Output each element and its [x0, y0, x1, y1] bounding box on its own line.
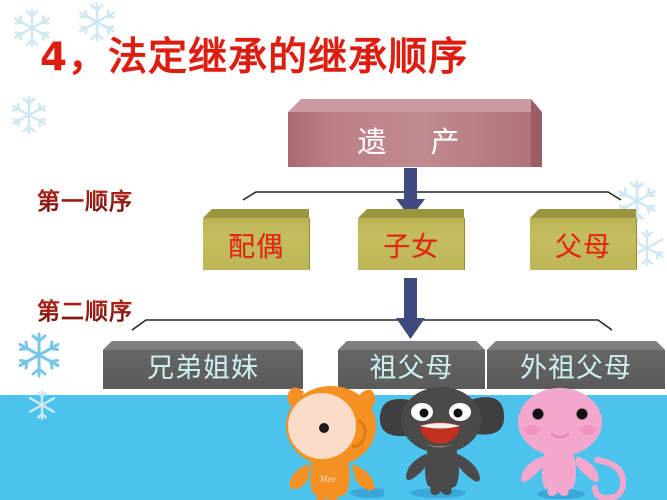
- svg-text:Mee: Mee: [319, 474, 336, 484]
- character-pink-pig: [505, 386, 633, 500]
- tier1-box-label: 父母: [530, 218, 636, 270]
- order-label-second: 第二顺序: [37, 292, 133, 326]
- tier1-box-parents[interactable]: 父母: [530, 218, 636, 270]
- estate-label-char-2: 产: [431, 119, 462, 161]
- slide-canvas: 4，法定继承的继承顺序 第一顺序 第二顺序 遗 产 配偶: [0, 0, 667, 500]
- estate-box-label: 遗 产: [288, 112, 531, 167]
- estate-box-side-face: [531, 99, 542, 167]
- tier1-box-children[interactable]: 子女: [358, 218, 464, 270]
- tier1-box-label: 子女: [358, 218, 464, 270]
- order-label-first: 第一顺序: [37, 182, 133, 216]
- character-orange-cat: Mee: [274, 384, 384, 500]
- character-dark-dog: [378, 382, 506, 500]
- tier1-box-top-face: [358, 209, 464, 218]
- estate-label-char-1: 遗: [357, 119, 388, 161]
- tier2-box-siblings[interactable]: 兄弟姐妹: [103, 341, 303, 389]
- tier2-box-label: 外祖父母: [487, 341, 665, 389]
- tier1-box-label: 配偶: [203, 218, 309, 270]
- tier2-box-paternal-grandparents[interactable]: 祖父母: [338, 341, 485, 389]
- tier1-box-spouse[interactable]: 配偶: [203, 218, 309, 270]
- tier2-box-maternal-grandparents[interactable]: 外祖父母: [487, 341, 665, 389]
- snowflake-icon: [8, 94, 50, 136]
- down-arrow-tier2: [396, 278, 425, 339]
- estate-box[interactable]: 遗 产: [288, 112, 531, 167]
- page-title: 4，法定继承的继承顺序: [40, 32, 468, 84]
- estate-box-top-face: [288, 99, 531, 112]
- tier2-box-label: 兄弟姐妹: [103, 341, 303, 389]
- snowflake-icon: [14, 330, 64, 380]
- tier1-box-top-face: [530, 209, 636, 218]
- tier2-box-label: 祖父母: [338, 341, 485, 389]
- tier1-box-top-face: [203, 209, 309, 218]
- bracket-tier2: [132, 320, 612, 330]
- bracket-tier1: [243, 192, 621, 200]
